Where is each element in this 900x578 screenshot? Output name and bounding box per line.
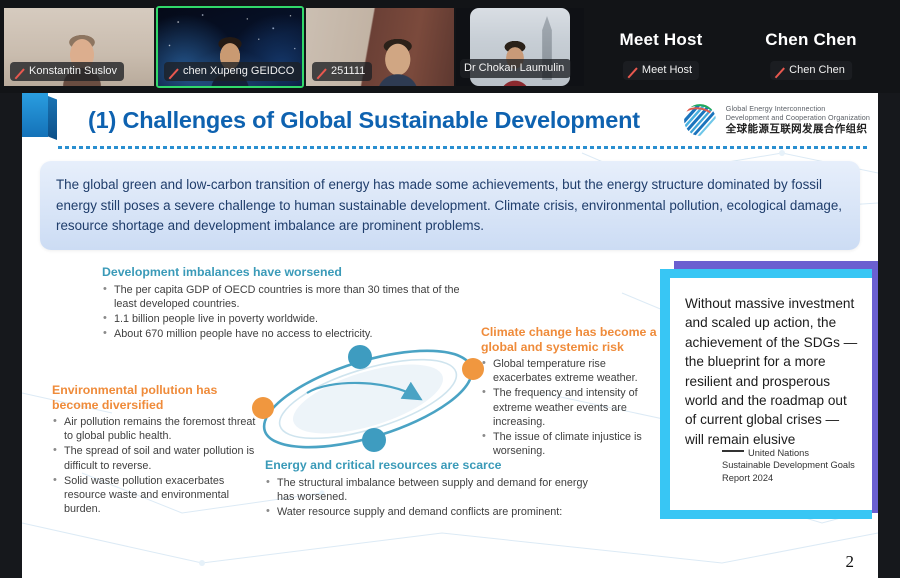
participant-tile-chen-chen[interactable]: Chen Chen Chen Chen — [736, 8, 886, 86]
quote-source-text: United Nations Sustainable Development G… — [722, 448, 855, 483]
quote-text: Without massive investment and scaled up… — [685, 294, 858, 449]
list-item: Water resource supply and demand conflic… — [265, 505, 605, 519]
logo-line-1: Global Energy Interconnection — [726, 104, 870, 113]
list-item: The issue of climate injustice is worsen… — [481, 430, 659, 458]
slide-page-number: 2 — [846, 552, 855, 572]
list-item: The frequency and intensity of extreme w… — [481, 386, 659, 429]
section-energy-resources: Energy and critical resources are scarce… — [265, 458, 605, 520]
section-heading: Climate change has become a global and s… — [481, 325, 659, 354]
slide-left-ribbon-decoration — [22, 93, 56, 145]
participant-name: 251111 — [331, 64, 365, 79]
title-divider — [58, 146, 870, 149]
un-quote-card: Without massive investment and scaled up… — [660, 261, 878, 519]
list-item: The per capita GDP of OECD countries is … — [102, 283, 462, 311]
participant-name-badge: Chen Chen — [770, 61, 852, 80]
participant-name: Konstantin Suslov — [29, 64, 117, 79]
participant-name: chen Xupeng GEIDCO — [183, 64, 294, 79]
section-bullet-list: The per capita GDP of OECD countries is … — [102, 283, 462, 342]
shared-slide[interactable]: (1) Challenges of Global Sustainable Dev… — [22, 93, 878, 578]
section-development-imbalances: Development imbalances have worsened The… — [102, 265, 462, 342]
participant-name-badge: 251111 — [312, 62, 372, 81]
intro-paragraph-box: The global green and low-carbon transiti… — [40, 161, 860, 250]
video-tile-251111[interactable]: 251111 — [306, 8, 454, 86]
logo-chinese-name: 全球能源互联网发展合作组织 — [726, 122, 870, 136]
participant-name: Meet Host — [642, 63, 692, 78]
participant-display-name: Meet Host — [586, 30, 736, 50]
section-bullet-list: Air pollution remains the foremost threa… — [52, 415, 264, 516]
video-tile-dr-chokan-laumulin[interactable]: Dr Chokan Laumulin — [456, 8, 584, 86]
video-tile-konstantin-suslov[interactable]: Konstantin Suslov — [4, 8, 154, 86]
list-item: The spread of soil and water pollution i… — [52, 444, 264, 472]
logo-line-2: Development and Cooperation Organization — [726, 113, 870, 122]
list-item: About 670 million people have no access … — [102, 327, 462, 341]
participant-display-name: Chen Chen — [736, 30, 886, 50]
list-item: 1.1 billion people live in poverty world… — [102, 312, 462, 326]
quote-inner-panel: Without massive investment and scaled up… — [670, 278, 872, 510]
participant-name-badge: Konstantin Suslov — [10, 62, 124, 81]
section-heading: Energy and critical resources are scarce — [265, 458, 605, 473]
participant-name-badge: chen Xupeng GEIDCO — [164, 62, 301, 81]
participant-name: Dr Chokan Laumulin — [464, 61, 564, 76]
list-item: The structural imbalance between supply … — [265, 476, 605, 504]
list-item: Air pollution remains the foremost threa… — [52, 415, 264, 443]
section-bullet-list: Global temperature rise exacerbates extr… — [481, 357, 659, 458]
participant-name-badge: Dr Chokan Laumulin — [460, 59, 571, 78]
quote-source: United Nations Sustainable Development G… — [722, 447, 860, 485]
section-bullet-list: The structural imbalance between supply … — [265, 476, 605, 520]
participant-tile-meet-host[interactable]: Meet Host Meet Host — [586, 8, 736, 86]
video-participant-strip: Konstantin Suslov chen Xupeng GEIDCO 251… — [0, 0, 900, 93]
section-heading: Development imbalances have worsened — [102, 265, 462, 280]
section-climate-change: Climate change has become a global and s… — [481, 325, 659, 459]
orbit-diagram — [237, 335, 499, 463]
participant-name-badge: Meet Host — [623, 61, 699, 80]
geidco-logo: Global Energy Interconnection Developmen… — [681, 101, 870, 139]
section-environmental-pollution: Environmental pollution has become diver… — [52, 383, 264, 517]
globe-icon — [681, 101, 719, 139]
video-tile-chen-xupeng-geidco[interactable]: chen Xupeng GEIDCO — [156, 6, 304, 88]
list-item: Solid waste pollution exacerbates resour… — [52, 474, 264, 517]
section-heading: Environmental pollution has become diver… — [52, 383, 264, 412]
list-item: Global temperature rise exacerbates extr… — [481, 357, 659, 385]
slide-title: (1) Challenges of Global Sustainable Dev… — [88, 107, 640, 134]
quote-dash — [722, 450, 744, 452]
participant-name: Chen Chen — [789, 63, 845, 78]
